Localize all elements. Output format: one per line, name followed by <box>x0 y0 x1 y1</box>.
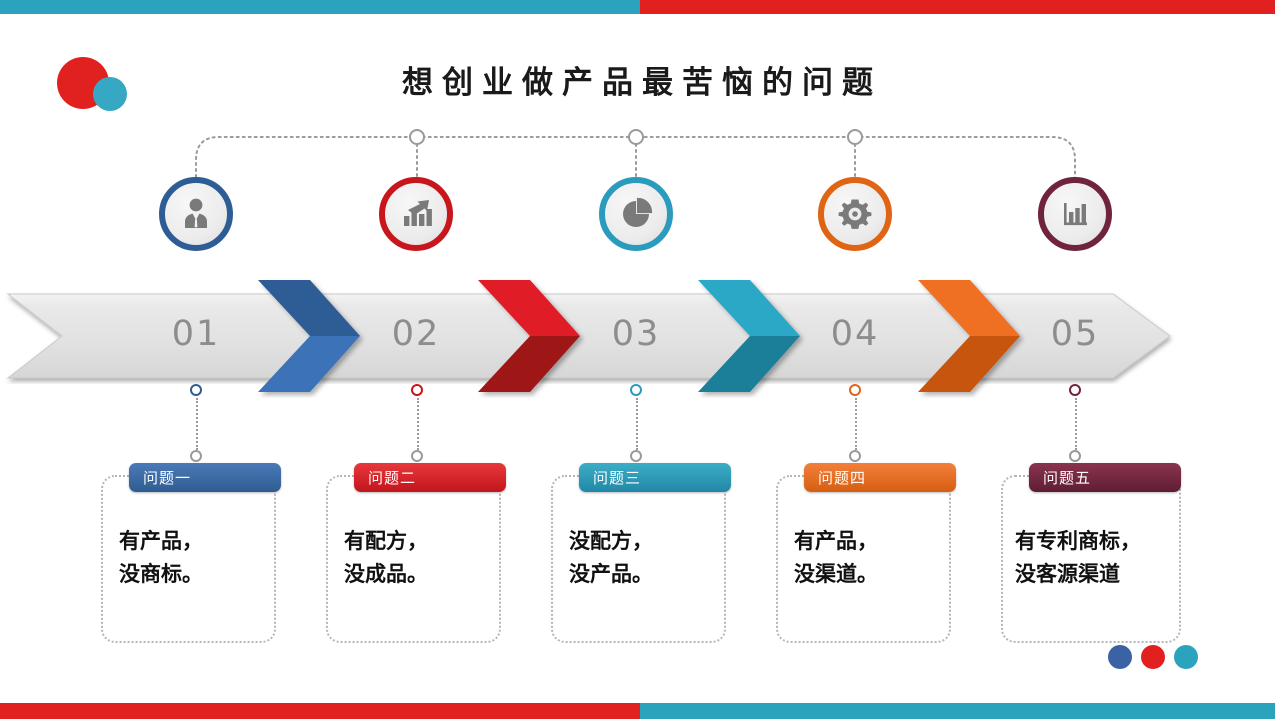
step-anchor-top-4 <box>849 384 861 396</box>
card-line-2-2: 没成品。 <box>344 558 483 591</box>
card-tab-1: 问题一 <box>129 463 281 492</box>
bar-chart-icon <box>1055 194 1095 234</box>
footer-dot-teal <box>1174 645 1198 669</box>
step-anchor-bottom-3 <box>630 450 642 462</box>
step-anchor-bottom-5 <box>1069 450 1081 462</box>
step-anchor-top-2 <box>411 384 423 396</box>
top-bar-right-segment <box>640 0 1275 14</box>
top-bar-left-segment <box>0 0 640 14</box>
problem-card-5[interactable]: 问题五 有专利商标， 没客源渠道 <box>1001 475 1181 643</box>
chevron-divider-3 <box>688 274 808 398</box>
card-line-5-2: 没客源渠道 <box>1015 558 1167 591</box>
step-anchor-top-1 <box>190 384 202 396</box>
step-anchor-top-3 <box>630 384 642 396</box>
footer-dot-blue <box>1108 645 1132 669</box>
card-line-3-1: 没配方， <box>569 525 708 558</box>
step-icon-4[interactable] <box>818 177 892 251</box>
card-tab-4: 问题四 <box>804 463 956 492</box>
problem-card-2[interactable]: 问题二 有配方， 没成品。 <box>326 475 501 643</box>
step-number-2: 02 <box>356 314 476 354</box>
gear-icon <box>835 194 875 234</box>
step-number-3: 03 <box>576 314 696 354</box>
chevron-divider-1 <box>248 274 368 398</box>
step-icon-5[interactable] <box>1038 177 1112 251</box>
card-body-2: 有配方， 没成品。 <box>328 525 499 590</box>
card-line-5-1: 有专利商标， <box>1015 525 1167 558</box>
card-line-1-1: 有产品， <box>119 525 258 558</box>
step-stem-4 <box>855 398 857 450</box>
card-body-1: 有产品， 没商标。 <box>103 525 274 590</box>
chevron-divider-2 <box>468 274 588 398</box>
card-body-4: 有产品， 没渠道。 <box>778 525 949 590</box>
card-line-2-1: 有配方， <box>344 525 483 558</box>
card-line-1-2: 没商标。 <box>119 558 258 591</box>
bottom-color-bar <box>0 703 1275 719</box>
pie-chart-icon <box>615 193 657 235</box>
card-tab-5: 问题五 <box>1029 463 1181 492</box>
footer-dots <box>1108 645 1198 669</box>
step-icon-3[interactable] <box>599 177 673 251</box>
step-anchor-bottom-2 <box>411 450 423 462</box>
step-number-5: 05 <box>1015 314 1135 354</box>
step-icon-2[interactable] <box>379 177 453 251</box>
top-color-bar <box>0 0 1275 14</box>
problem-card-3[interactable]: 问题三 没配方， 没产品。 <box>551 475 726 643</box>
step-anchor-top-5 <box>1069 384 1081 396</box>
footer-dot-red <box>1141 645 1165 669</box>
step-anchor-bottom-4 <box>849 450 861 462</box>
card-line-3-2: 没产品。 <box>569 558 708 591</box>
bar-chart-up-icon <box>396 194 436 234</box>
bottom-bar-right-segment <box>640 703 1275 719</box>
page-title: 想创业做产品最苦恼的问题 <box>0 57 1275 102</box>
card-tab-2: 问题二 <box>354 463 506 492</box>
problem-card-4[interactable]: 问题四 有产品， 没渠道。 <box>776 475 951 643</box>
card-line-4-1: 有产品， <box>794 525 933 558</box>
step-stem-5 <box>1075 398 1077 450</box>
chevron-divider-4 <box>908 274 1028 398</box>
card-body-5: 有专利商标， 没客源渠道 <box>1003 525 1179 590</box>
step-number-4: 04 <box>795 314 915 354</box>
step-anchor-bottom-1 <box>190 450 202 462</box>
bottom-bar-left-segment <box>0 703 640 719</box>
step-icon-1[interactable] <box>159 177 233 251</box>
card-body-3: 没配方， 没产品。 <box>553 525 724 590</box>
step-stem-2 <box>417 398 419 450</box>
businessman-icon <box>176 194 216 234</box>
step-stem-3 <box>636 398 638 450</box>
problem-card-1[interactable]: 问题一 有产品， 没商标。 <box>101 475 276 643</box>
slide-canvas: 想创业做产品最苦恼的问题 <box>0 0 1275 719</box>
step-number-1: 01 <box>136 314 256 354</box>
card-tab-3: 问题三 <box>579 463 731 492</box>
card-line-4-2: 没渠道。 <box>794 558 933 591</box>
step-stem-1 <box>196 398 198 450</box>
